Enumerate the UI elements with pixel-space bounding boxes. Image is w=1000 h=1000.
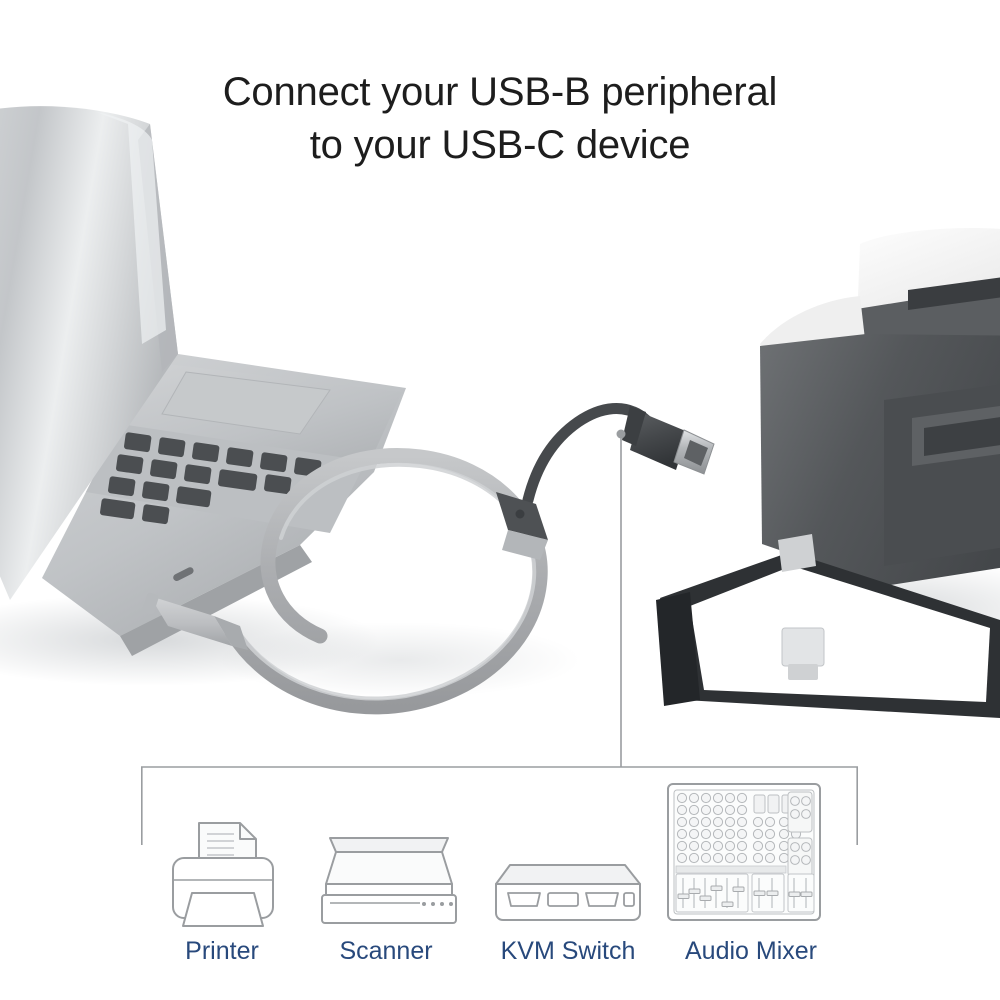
printer-tray-hinge [778,534,816,572]
scanner-icon-glass-bed [326,884,452,895]
product-infographic: Connect your USB-B peripheral to your US… [0,0,1000,1000]
printer-body-front-face [884,378,1000,566]
device-label-scanner: Scanner [286,936,486,966]
scanner-icon-lid [330,838,448,852]
kvm-switch-icon [496,865,640,920]
printer-icon [173,823,273,926]
device-label-audio-mixer: Audio Mixer [651,936,851,966]
laptop [0,106,406,656]
kvm-icon-top [496,865,640,884]
device-label-kvm-switch: KVM Switch [468,936,668,966]
kvm-icon-ports [508,893,634,906]
mixer-icon-fader-bank [676,874,814,912]
scanner-icon-lid-under [326,852,452,884]
printer-icon-out-tray [183,893,263,926]
cable-ferrite-block [496,492,548,560]
scanner-icon-base [322,895,456,923]
page-title: Connect your USB-B peripheral to your US… [0,66,1000,172]
printer [656,228,1000,718]
kvm-port-usb-3 [624,893,634,906]
kvm-port-usb-1 [548,893,578,906]
mixer-icon-divider [676,866,786,873]
usbb-connector [622,406,714,474]
audio-mixer-icon [668,784,820,920]
scanner-icon [322,838,456,923]
callout-anchor-dot [617,430,626,439]
kvm-port-hdmi-1 [508,893,540,906]
printer-paper-guide [782,628,824,680]
